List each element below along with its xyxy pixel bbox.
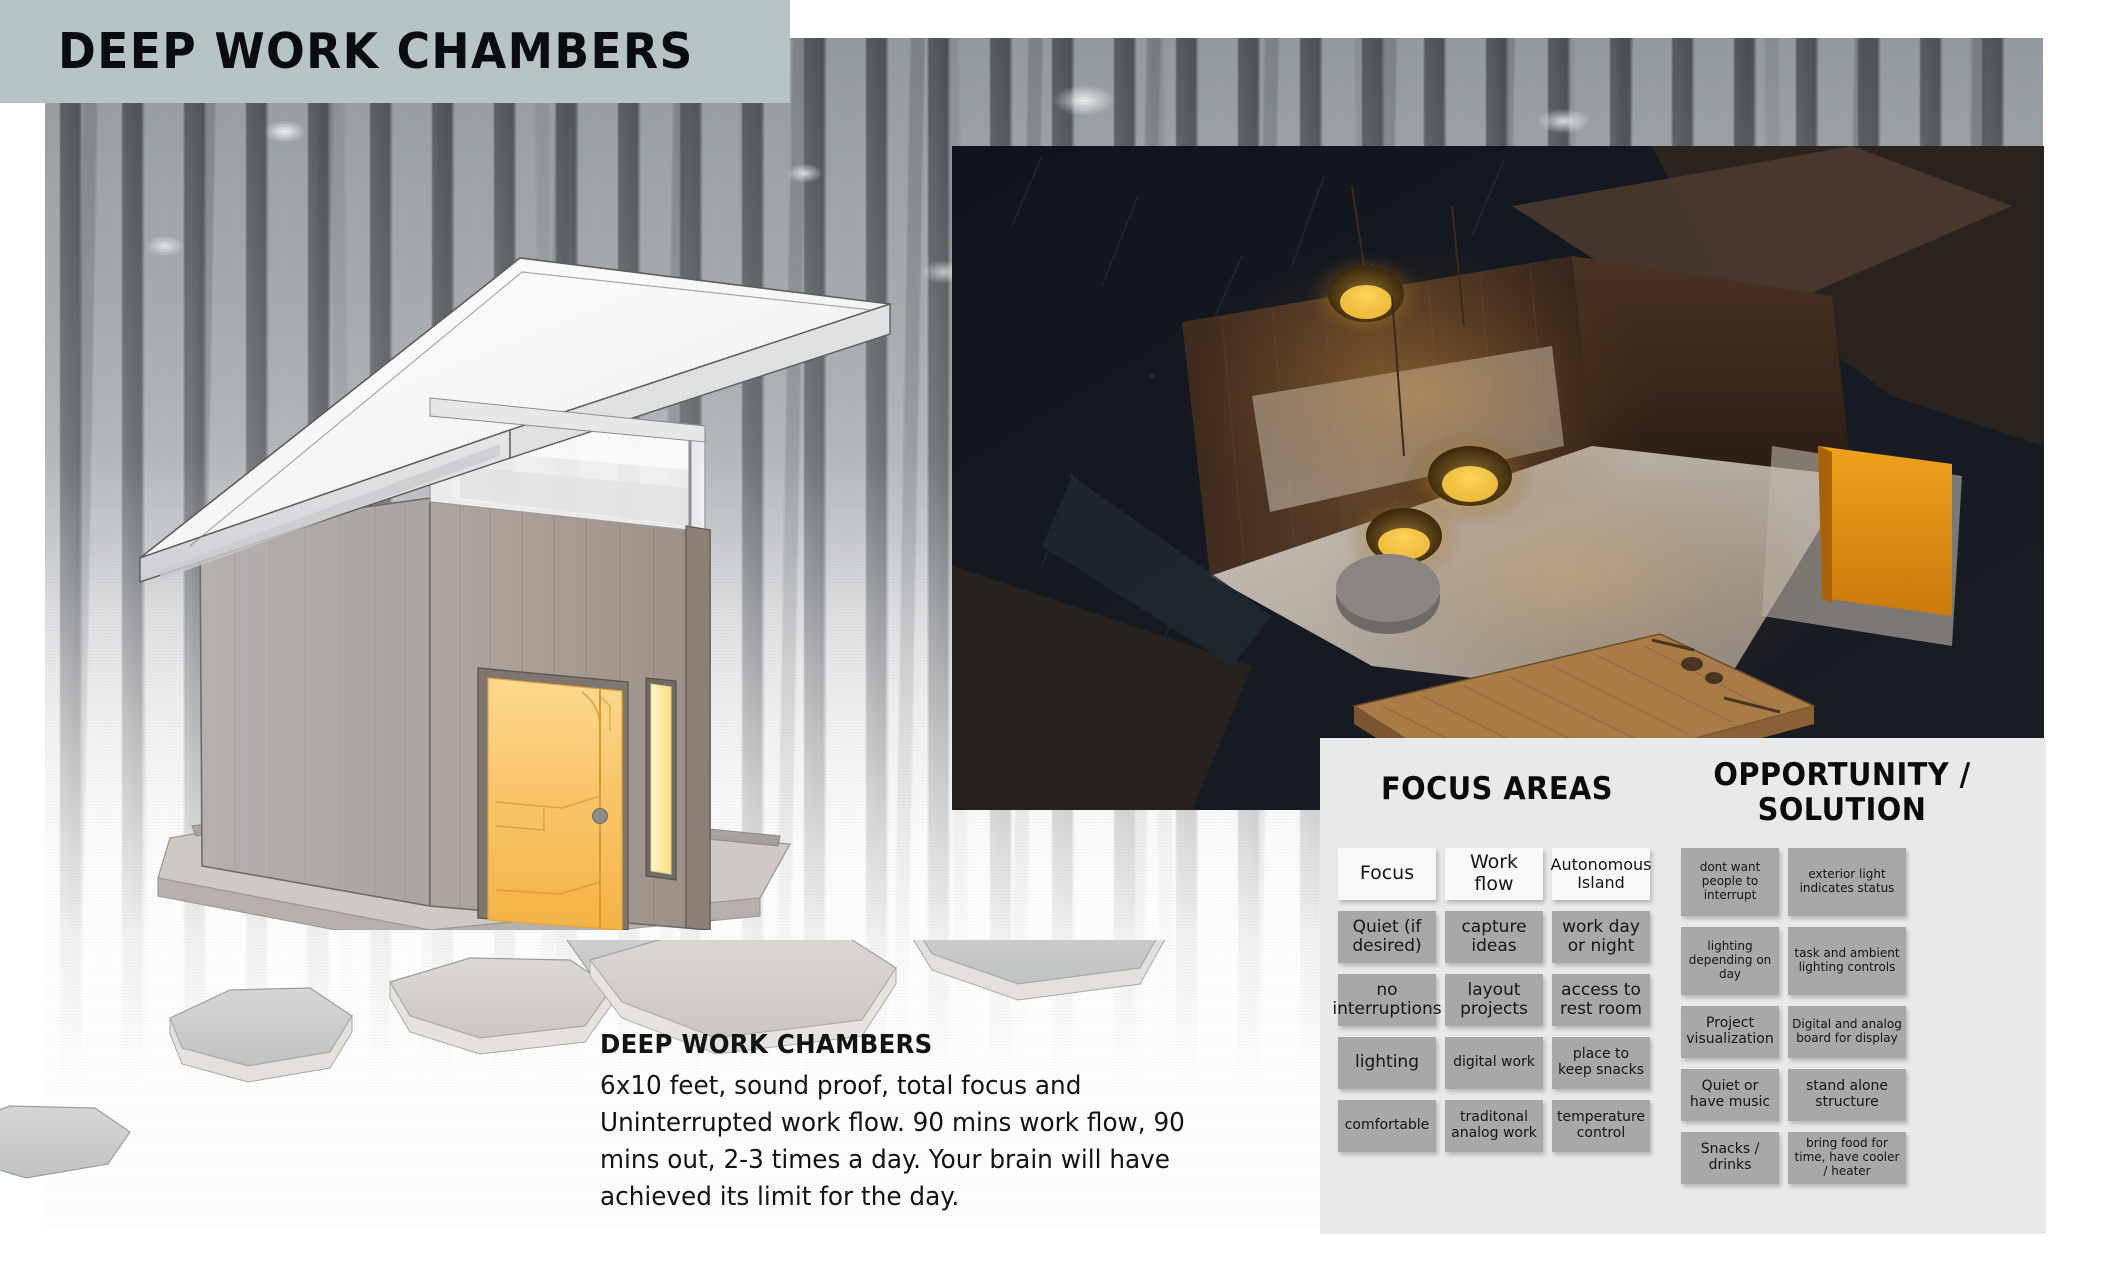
column-solution: exterior light indicates status task and… [1788, 848, 1906, 1195]
analysis-panel: FOCUS AREAS OPPORTUNITY / SOLUTION Focus… [1320, 738, 2046, 1234]
focus-areas-heading: FOCUS AREAS [1349, 756, 1645, 848]
column-focus: Focus Quiet (if desired) no interruption… [1338, 848, 1436, 1195]
orange-accent-panel [1818, 446, 1952, 616]
opportunity-solution-heading: OPPORTUNITY / SOLUTION [1669, 756, 2015, 848]
card-focus-header[interactable]: Focus [1338, 848, 1436, 900]
caption-block: DEEP WORK CHAMBERS 6x10 feet, sound proo… [600, 1030, 1250, 1216]
card-solution-5[interactable]: bring food for time, have cooler / heate… [1788, 1132, 1906, 1184]
card-workflow-item-2[interactable]: layout projects [1445, 974, 1543, 1026]
card-island-item-1[interactable]: work day or night [1552, 911, 1650, 963]
card-opportunity-2[interactable]: lighting depending on day [1681, 927, 1779, 995]
stone-5 [905, 940, 1168, 1000]
card-workflow-item-4[interactable]: traditonal analog work [1445, 1100, 1543, 1152]
cabin-exterior-render [130, 230, 910, 930]
card-island-item-4[interactable]: temperature control [1552, 1100, 1650, 1152]
stone-7 [0, 1106, 130, 1178]
caption-heading: DEEP WORK CHAMBERS [600, 1030, 1211, 1060]
column-autonomous-island: Autonomous Island work day or night acce… [1552, 848, 1650, 1195]
card-workflow-header[interactable]: Work flow [1445, 848, 1543, 900]
stone-1 [170, 988, 352, 1082]
card-island-header[interactable]: Autonomous Island [1552, 848, 1650, 900]
page-title: DEEP WORK CHAMBERS [58, 23, 694, 80]
panel-headers: FOCUS AREAS OPPORTUNITY / SOLUTION [1338, 756, 2028, 848]
card-island-item-2[interactable]: access to rest room [1552, 974, 1650, 1026]
card-solution-3[interactable]: Digital and analog board for display [1788, 1006, 1906, 1058]
card-focus-item-4[interactable]: comfortable [1338, 1100, 1436, 1152]
card-island-item-3[interactable]: place to keep snacks [1552, 1037, 1650, 1089]
cabin-interior-render [952, 146, 2044, 810]
column-work-flow: Work flow capture ideas layout projects … [1445, 848, 1543, 1195]
card-workflow-item-3[interactable]: digital work [1445, 1037, 1543, 1089]
door-handle [593, 809, 608, 824]
door-glow-panel [488, 678, 622, 930]
caption-body: 6x10 feet, sound proof, total focus and … [600, 1068, 1218, 1216]
presentation-board: DEEP WORK CHAMBERS DEEP WORK CHAMBERS 6x… [0, 0, 2101, 1276]
card-solution-1[interactable]: exterior light indicates status [1788, 848, 1906, 916]
card-solution-2[interactable]: task and ambient lighting controls [1788, 927, 1906, 995]
card-focus-item-2[interactable]: no interruptions [1338, 974, 1436, 1026]
interior-stool [1336, 554, 1440, 634]
desk-grommet-1 [1681, 657, 1703, 671]
card-opportunity-3[interactable]: Project visualization [1681, 1006, 1779, 1058]
board-title-banner: DEEP WORK CHAMBERS [0, 0, 790, 103]
cabin-corner-post [686, 526, 710, 930]
card-workflow-item-1[interactable]: capture ideas [1445, 911, 1543, 963]
card-opportunity-5[interactable]: Snacks / drinks [1681, 1132, 1779, 1184]
card-solution-4[interactable]: stand alone structure [1788, 1069, 1906, 1121]
light-strip-glow [651, 684, 671, 874]
card-focus-item-3[interactable]: lighting [1338, 1037, 1436, 1089]
card-focus-item-1[interactable]: Quiet (if desired) [1338, 911, 1436, 963]
column-opportunity: dont want people to interrupt lighting d… [1681, 848, 1779, 1195]
desk-grommet-2 [1705, 672, 1723, 684]
stone-2 [390, 958, 612, 1054]
panel-columns: Focus Quiet (if desired) no interruption… [1338, 848, 2028, 1195]
card-opportunity-4[interactable]: Quiet or have music [1681, 1069, 1779, 1121]
card-opportunity-1[interactable]: dont want people to interrupt [1681, 848, 1779, 916]
